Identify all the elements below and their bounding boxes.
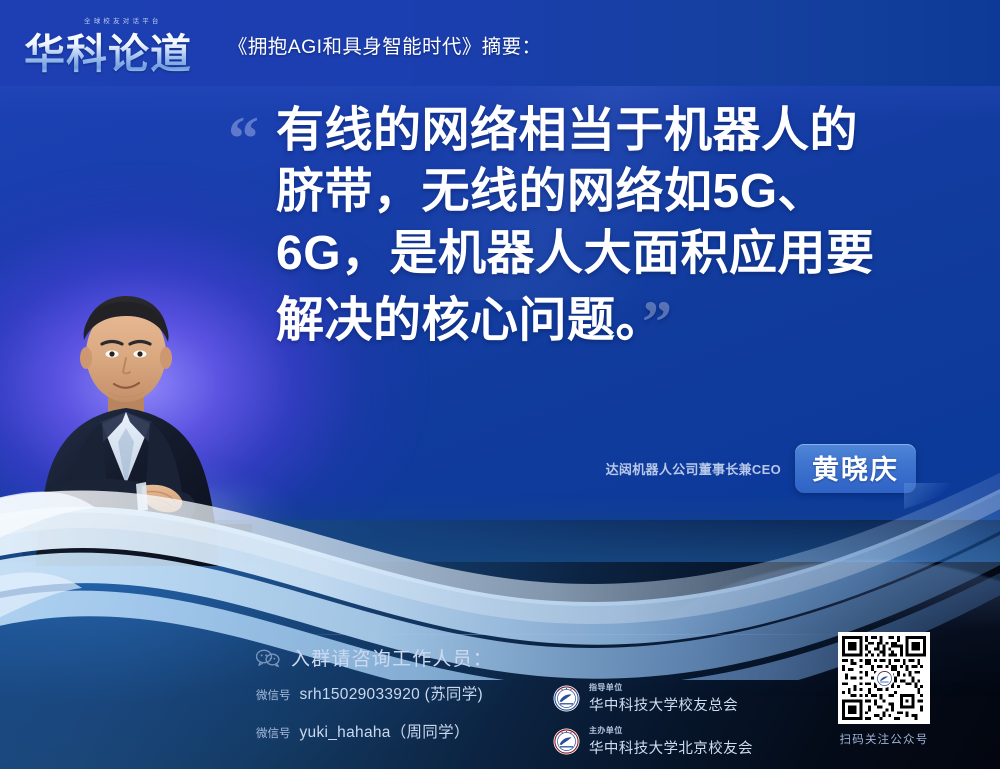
list-item: 主办单位 华中科技大学北京校友会: [553, 725, 753, 758]
list-item: 指导单位 华中科技大学校友总会: [553, 682, 753, 715]
hust-beijing-alumni-seal-icon: [553, 728, 580, 755]
header: 全球校友对话平台 华科论道 《拥抱AGI和具身智能时代》摘要：: [0, 0, 1000, 88]
page-title: 《拥抱AGI和具身智能时代》摘要：: [228, 30, 541, 59]
contact-value: yuki_hahaha（周同学）: [300, 720, 470, 742]
organization-text: 主办单位 华中科技大学北京校友会: [589, 725, 753, 758]
quote-line-1: 有线的网络相当于机器人的: [276, 100, 976, 161]
list-item[interactable]: 微信号 srh15029033920 (苏同学): [256, 682, 483, 704]
speaker-role: 达闼机器人公司董事长兼CEO: [606, 459, 781, 478]
organization-kind: 主办单位: [589, 725, 753, 736]
organization-kind: 指导单位: [589, 682, 738, 693]
qr-caption: 扫码关注公众号: [840, 731, 929, 747]
organization-list: 指导单位 华中科技大学校友总会: [553, 682, 753, 758]
logo-wordmark: 华科论道: [24, 24, 214, 75]
poster-canvas: 全球校友对话平台 华科论道 《拥抱AGI和具身智能时代》摘要： “ 有线的网络相…: [0, 0, 1000, 769]
quote-line-2: 脐带，无线的网络如5G、: [276, 161, 976, 222]
status-badge: 黄晓庆: [795, 444, 916, 493]
speaker-name: 黄晓庆: [812, 455, 899, 485]
open-quote-mark: “: [228, 108, 259, 170]
organization-name: 华中科技大学校友总会: [589, 694, 738, 715]
qr-code[interactable]: [838, 632, 930, 724]
list-item[interactable]: 微信号 yuki_hahaha（周同学）: [256, 720, 483, 742]
contact-value: srh15029033920 (苏同学): [300, 682, 484, 704]
wechat-icon: [256, 649, 280, 667]
brand-logo[interactable]: 全球校友对话平台 华科论道: [24, 13, 214, 75]
footer-content-grid: 微信号 srh15029033920 (苏同学) 微信号 yuki_hahaha…: [256, 682, 816, 758]
contact-label: 微信号: [256, 725, 291, 741]
qr-block: 扫码关注公众号: [838, 632, 930, 747]
quote-line-3: 6G，是机器人大面积应用要: [276, 223, 976, 284]
quote-line-4: 解决的核心问题。: [276, 294, 640, 347]
close-quote-mark: ”: [642, 289, 673, 355]
qr-center-logo-icon: [874, 668, 894, 688]
organization-text: 指导单位 华中科技大学校友总会: [589, 682, 738, 715]
quote-line-4-wrap: 解决的核心问题。”: [276, 284, 976, 361]
attribution: 达闼机器人公司董事长兼CEO 黄晓庆: [606, 444, 916, 493]
quote-block: “ 有线的网络相当于机器人的 脐带，无线的网络如5G、 6G，是机器人大面积应用…: [276, 100, 976, 361]
contact-label: 微信号: [256, 687, 291, 703]
contact-list: 微信号 srh15029033920 (苏同学) 微信号 yuki_hahaha…: [256, 682, 483, 758]
footer: 入群请咨询工作人员： 微信号 srh15029033920 (苏同学) 微信号 …: [256, 644, 816, 758]
footer-heading: 入群请咨询工作人员：: [291, 644, 493, 671]
footer-heading-row: 入群请咨询工作人员：: [256, 644, 816, 671]
organization-name: 华中科技大学北京校友会: [589, 737, 753, 758]
footer-divider: [290, 634, 860, 635]
hust-alumni-seal-icon: [553, 685, 580, 712]
